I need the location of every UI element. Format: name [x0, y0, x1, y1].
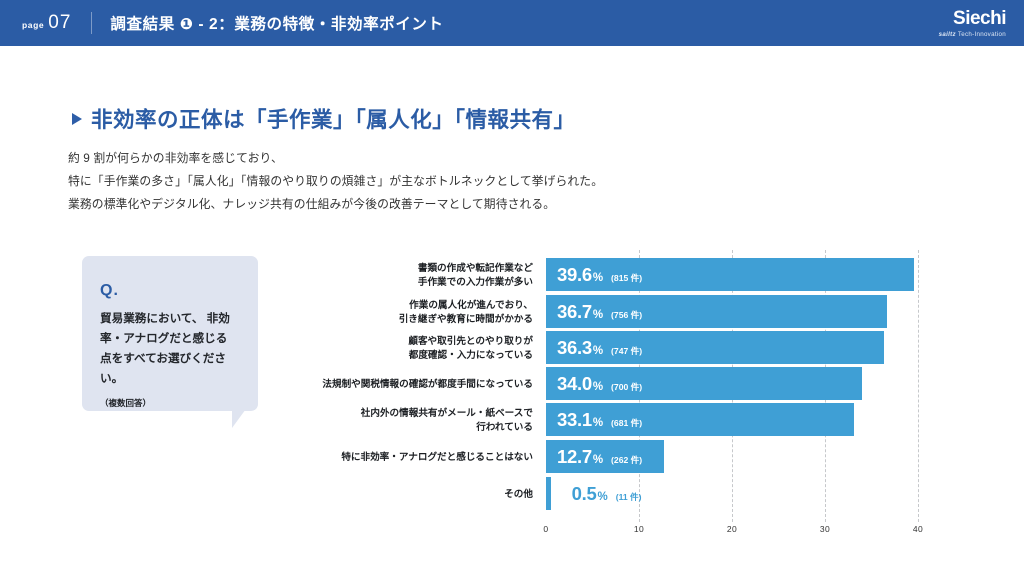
chart-row: 社内外の情報共有がメール・紙ベースで 行われている33.1%(681 件) — [0, 403, 1024, 436]
bar-value-group: 34.0%(700 件) — [557, 373, 642, 395]
bar[interactable]: 0.5%(11 件) — [546, 477, 551, 510]
bar[interactable]: 36.3%(747 件) — [546, 331, 884, 364]
bar-chart-rows: 書類の作成や転記作業など 手作業での入力作業が多い39.6%(815 件)作業の… — [0, 0, 1024, 577]
bar-category-label: 特に非効率・アナログだと感じることはない — [273, 451, 533, 465]
bar[interactable]: 12.7%(262 件) — [546, 440, 664, 473]
bar-value-number: 34.0 — [557, 373, 592, 395]
chart-row: 法規制や関税情報の確認が都度手間になっている34.0%(700 件) — [0, 367, 1024, 400]
chart-row: 特に非効率・アナログだと感じることはない12.7%(262 件) — [0, 440, 1024, 473]
bar[interactable]: 39.6%(815 件) — [546, 258, 914, 291]
bar-category-label: 作業の属人化が進んでおり、 引き継ぎや教育に時間がかかる — [273, 299, 533, 326]
x-axis-tick-0: 0 — [543, 524, 548, 534]
bar-value-percent-sign: % — [593, 417, 603, 429]
bar-value-group: 36.7%(756 件) — [557, 301, 642, 323]
bar-value-number: 36.3 — [557, 337, 592, 359]
bar-value-percent-sign: % — [593, 345, 603, 357]
bar-value-number: 39.6 — [557, 264, 592, 286]
bar-category-label: 書類の作成や転記作業など 手作業での入力作業が多い — [273, 262, 533, 289]
bar-value-percent-sign: % — [593, 381, 603, 393]
bar-value-number: 33.1 — [557, 409, 592, 431]
bar-value-group: 12.7%(262 件) — [557, 446, 642, 468]
bar-category-label: 顧客や取引先とのやり取りが 都度確認・入力になっている — [273, 335, 533, 362]
x-axis-tick-30: 30 — [820, 524, 830, 534]
bar-category-label: 社内外の情報共有がメール・紙ベースで 行われている — [273, 407, 533, 434]
bar-value-count: (262 件) — [611, 454, 642, 466]
bar-category-label: その他 — [273, 488, 533, 502]
bar-value-number: 0.5 — [572, 483, 597, 505]
x-axis-tick-10: 10 — [634, 524, 644, 534]
x-axis: 010203040 — [546, 524, 946, 544]
bar-value-count: (681 件) — [611, 417, 642, 429]
bar-value-percent-sign: % — [593, 454, 603, 466]
x-axis-tick-20: 20 — [727, 524, 737, 534]
x-axis-tick-40: 40 — [913, 524, 923, 534]
bar[interactable]: 34.0%(700 件) — [546, 367, 862, 400]
chart-row: 書類の作成や転記作業など 手作業での入力作業が多い39.6%(815 件) — [0, 258, 1024, 291]
slide-page: page 07 調査結果 ❶ - 2：業務の特徴・非効率ポイント Siechi … — [0, 0, 1024, 577]
bar-value-number: 36.7 — [557, 301, 592, 323]
bar-value-group: 33.1%(681 件) — [557, 409, 642, 431]
chart-row: 作業の属人化が進んでおり、 引き継ぎや教育に時間がかかる36.7%(756 件) — [0, 295, 1024, 328]
bar-value-count: (756 件) — [611, 309, 642, 321]
bar[interactable]: 36.7%(756 件) — [546, 295, 887, 328]
bar-value-count: (700 件) — [611, 381, 642, 393]
bar-value-count: (747 件) — [611, 345, 642, 357]
bar-value-count: (11 件) — [616, 491, 642, 503]
bar-value-number: 12.7 — [557, 446, 592, 468]
chart-row: 顧客や取引先とのやり取りが 都度確認・入力になっている36.3%(747 件) — [0, 331, 1024, 364]
bar-value-group: 36.3%(747 件) — [557, 337, 642, 359]
bar[interactable]: 33.1%(681 件) — [546, 403, 854, 436]
bar-value-count: (815 件) — [611, 272, 642, 284]
chart-row: その他0.5%(11 件) — [0, 477, 1024, 510]
bar-category-label: 法規制や関税情報の確認が都度手間になっている — [273, 378, 533, 392]
bar-value-percent-sign: % — [597, 491, 607, 503]
bar-value-group: 0.5%(11 件) — [572, 483, 642, 505]
bar-value-percent-sign: % — [593, 309, 603, 321]
bar-value-percent-sign: % — [593, 272, 603, 284]
bar-value-group: 39.6%(815 件) — [557, 264, 642, 286]
